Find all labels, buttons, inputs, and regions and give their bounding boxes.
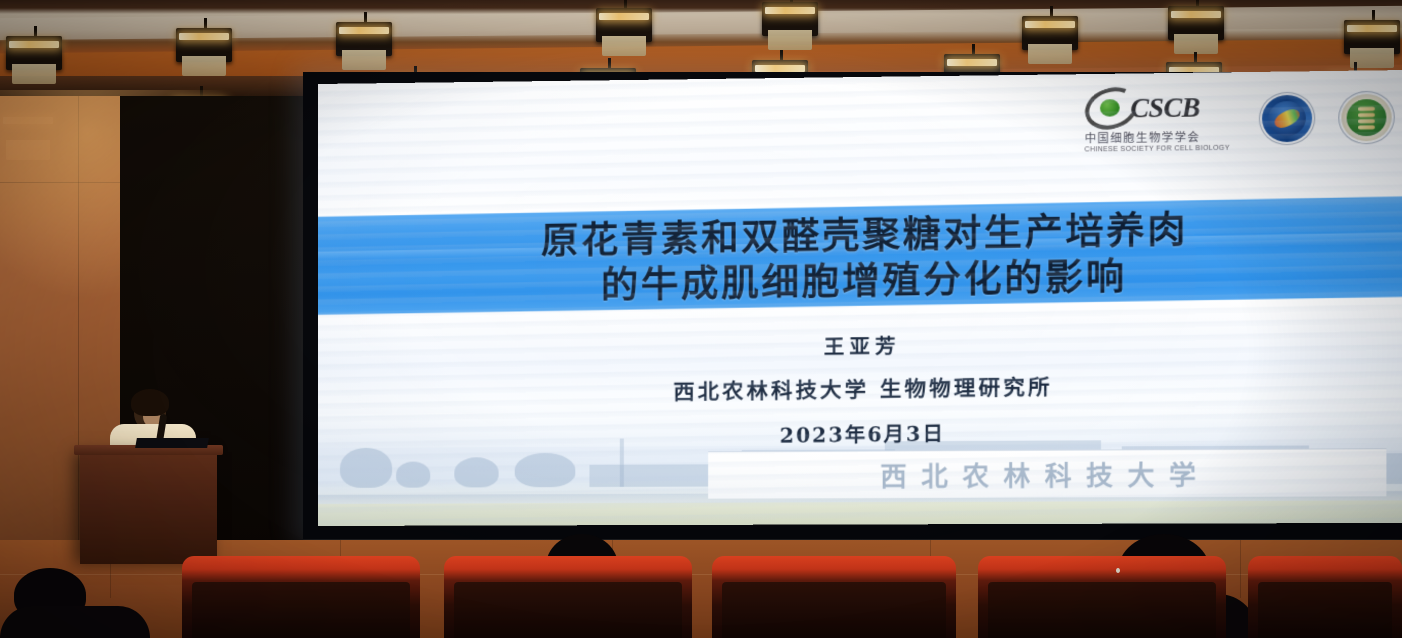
- cscb-english-name: CHINESE SOCIETY FOR CELL BIOLOGY: [1085, 145, 1230, 154]
- blue-institute-logo: [1259, 92, 1315, 146]
- audience-seat: [1248, 556, 1402, 638]
- wheat-icon: [1356, 105, 1377, 130]
- audience-seat: [712, 556, 956, 638]
- earring: [1116, 568, 1120, 573]
- audience-seat: [978, 556, 1226, 638]
- presentation-slide: CSCB 中国细胞生物学学会 CHINESE SOCIETY FOR CELL …: [318, 70, 1402, 526]
- ceiling-spotlight: [1022, 16, 1078, 50]
- campus-banner-text: 西北农林科技大学: [880, 455, 1210, 494]
- audience-seat: [444, 556, 692, 638]
- campus-banner: 西北农林科技大学: [708, 448, 1386, 498]
- projection-screen[interactable]: CSCB 中国细胞生物学学会 CHINESE SOCIETY FOR CELL …: [318, 70, 1402, 526]
- logo-row: CSCB 中国细胞生物学学会 CHINESE SOCIETY FOR CELL …: [1085, 84, 1395, 153]
- presenter-name: 王亚芳: [318, 322, 1402, 367]
- slide-title: 原花青素和双醛壳聚糖对生产培养肉 的牛成肌细胞增殖分化的影响: [318, 202, 1402, 312]
- audience-seat: [182, 556, 420, 638]
- cscb-chinese-name: 中国细胞生物学学会: [1085, 129, 1201, 147]
- ceiling-spotlight: [1344, 20, 1400, 54]
- ceiling-spotlight: [596, 8, 652, 42]
- presenter-block: 王亚芳 西北农林科技大学 生物物理研究所 2023年6月3日: [318, 322, 1402, 454]
- ceiling-spotlight: [336, 22, 392, 56]
- ceiling-spotlight: [176, 28, 232, 62]
- ceiling-spotlight: [6, 36, 62, 70]
- laptop-on-lectern: [135, 438, 209, 448]
- presenter-affiliation: 西北农林科技大学 生物物理研究所: [318, 366, 1402, 411]
- lectern: [80, 452, 217, 564]
- ceiling-spotlight: [1168, 6, 1224, 40]
- presenter-hair: [131, 389, 169, 416]
- auditorium-photo: CSCB 中国细胞生物学学会 CHINESE SOCIETY FOR CELL …: [0, 0, 1402, 638]
- ceiling-spotlight: [762, 2, 818, 36]
- cscb-wordmark: CSCB: [1130, 92, 1200, 124]
- audience-shoulders: [0, 606, 150, 638]
- cscb-ring-icon: [1085, 88, 1139, 129]
- cscb-logo: CSCB 中国细胞生物学学会 CHINESE SOCIETY FOR CELL …: [1085, 86, 1236, 153]
- nwafu-logo: [1338, 91, 1395, 145]
